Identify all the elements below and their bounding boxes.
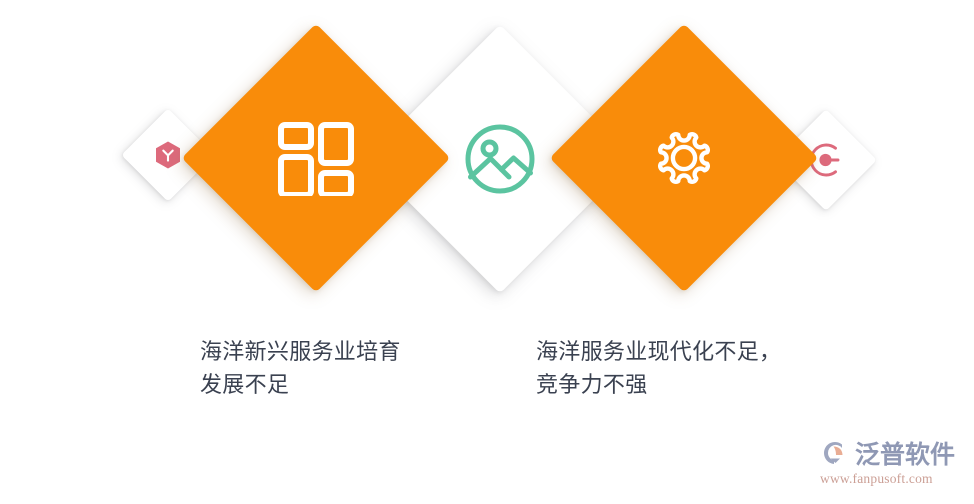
fanpu-logo-icon [820,438,850,468]
grid-dashboard-icon [278,120,354,196]
watermark-brand-text: 泛普软件 [855,435,955,471]
caption-text-1: 海洋新兴服务业培育 发展不足 [200,335,500,402]
diamond-tile-2[interactable] [221,63,411,253]
watermark-url-text: www.fanpusoft.com [820,471,960,487]
diamond-tile-4[interactable] [589,63,779,253]
diamond-row [0,0,974,330]
gear-settings-icon [645,119,723,197]
hexagon-y-icon [152,139,184,171]
slide-canvas: 海洋新兴服务业培育 发展不足 海洋服务业现代化不足， 竞争力不强 泛普软件 ww… [0,0,974,504]
watermark-logo: 泛普软件 www.fanpusoft.com [820,436,960,494]
image-photo-icon [461,120,539,198]
watermark-brand-row: 泛普软件 [820,436,960,470]
caption-text-2: 海洋服务业现代化不足， 竞争力不强 [536,335,856,402]
